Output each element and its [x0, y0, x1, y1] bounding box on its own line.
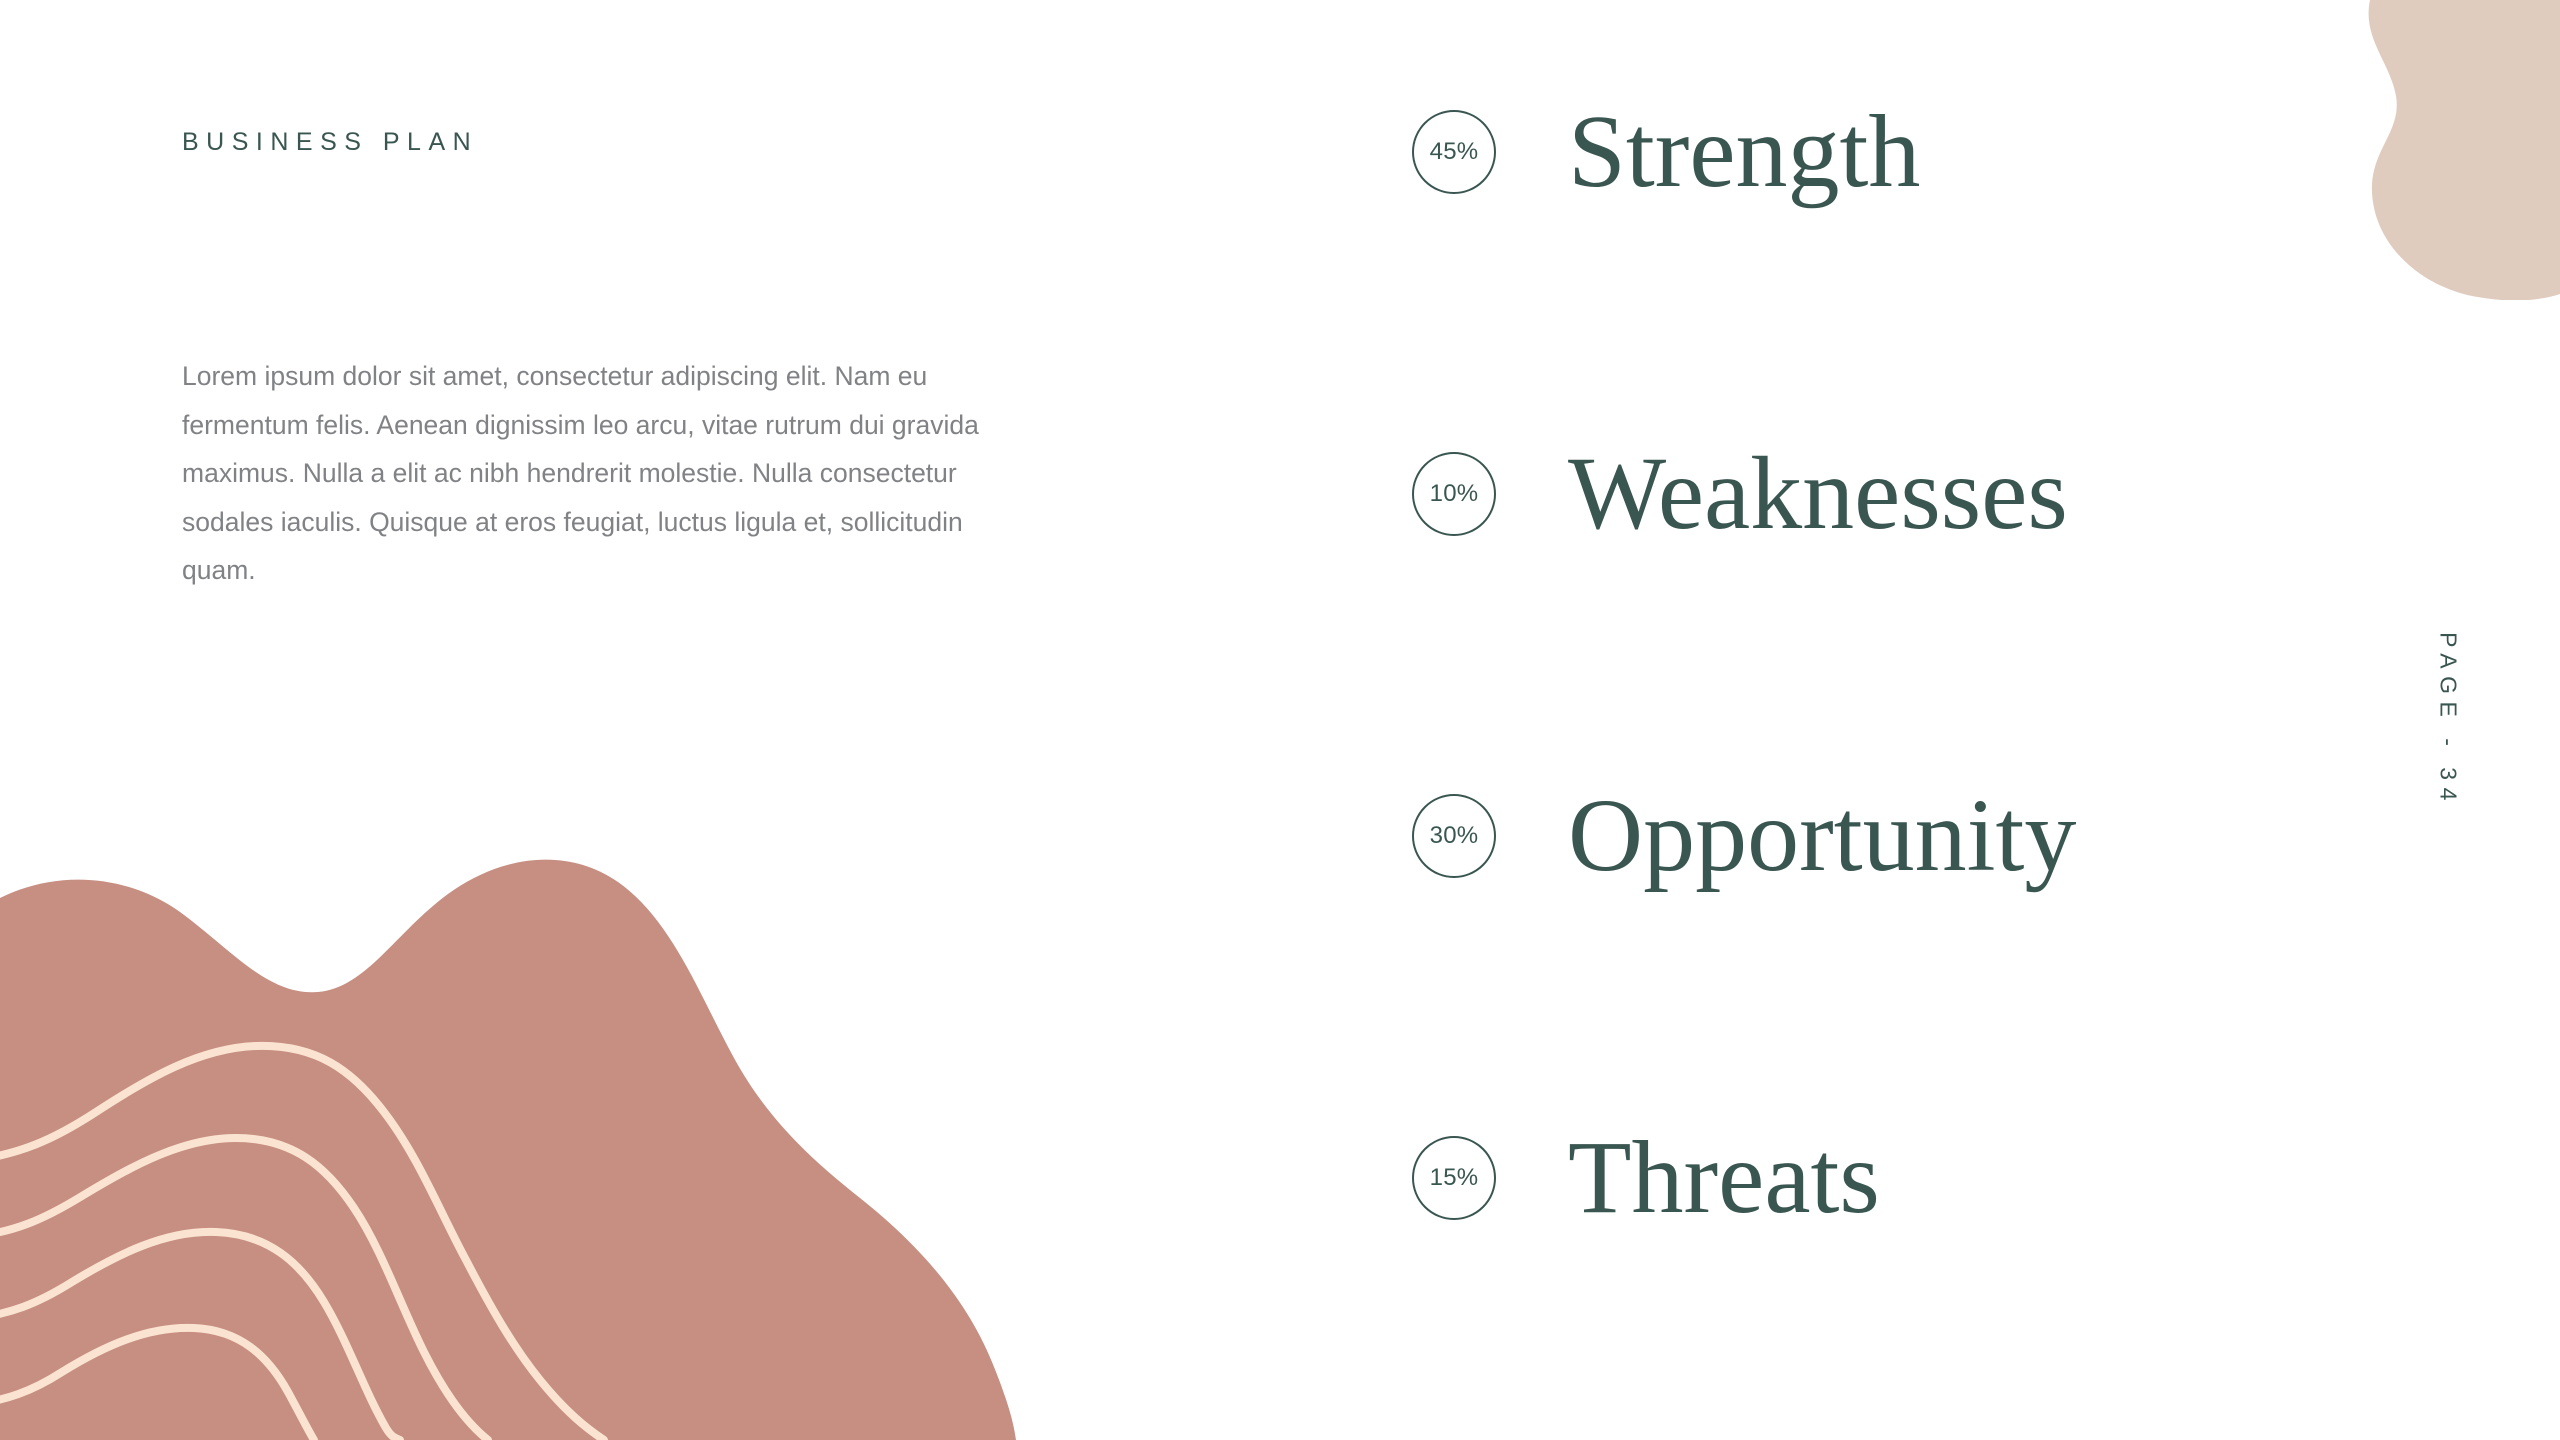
terracotta-blob-decoration [0, 820, 1120, 1440]
percent-badge-threats: 15% [1412, 1136, 1496, 1220]
swot-item-weaknesses: 10% Weaknesses [1412, 450, 2292, 538]
swot-label-opportunity: Opportunity [1568, 784, 2076, 888]
percent-value: 10% [1430, 480, 1479, 508]
swot-label-threats: Threats [1568, 1126, 1880, 1230]
swot-item-opportunity: 30% Opportunity [1412, 792, 2292, 880]
swot-label-weaknesses: Weaknesses [1568, 442, 2068, 546]
left-content-column: BUSINESS PLAN Lorem ipsum dolor sit amet… [182, 128, 1012, 157]
percent-value: 45% [1430, 138, 1479, 166]
page-number-marker: PAGE - 34 [2435, 632, 2462, 808]
percent-badge-strength: 45% [1412, 110, 1496, 194]
eyebrow-heading: BUSINESS PLAN [182, 128, 1012, 157]
slide-root: BUSINESS PLAN Lorem ipsum dolor sit amet… [0, 0, 2560, 1440]
swot-item-strength: 45% Strength [1412, 108, 2292, 196]
swot-label-strength: Strength [1568, 100, 1920, 204]
swot-list: 45% Strength 10% Weaknesses 30% Opportun… [1412, 108, 2292, 1222]
percent-value: 15% [1430, 1164, 1479, 1192]
percent-value: 30% [1430, 822, 1479, 850]
swot-item-threats: 15% Threats [1412, 1134, 2292, 1222]
body-paragraph: Lorem ipsum dolor sit amet, consectetur … [182, 352, 997, 595]
percent-badge-weaknesses: 10% [1412, 452, 1496, 536]
percent-badge-opportunity: 30% [1412, 794, 1496, 878]
